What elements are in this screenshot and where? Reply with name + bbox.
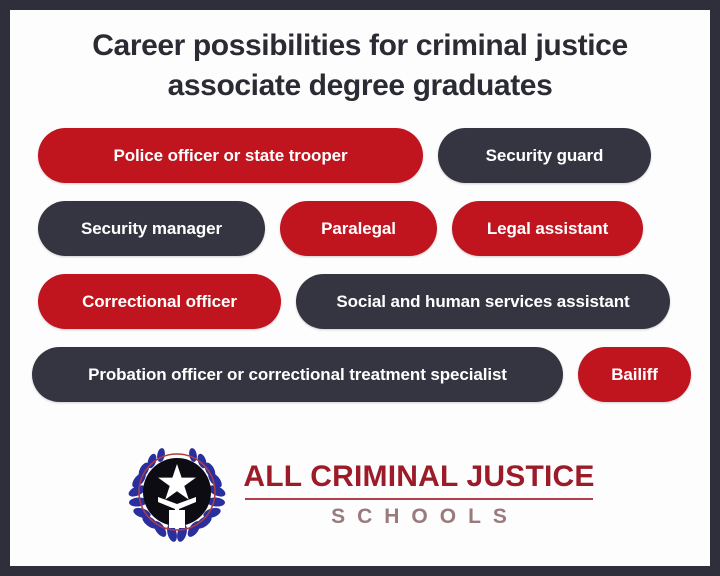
brand-name-secondary: SCHOOLS: [243, 506, 594, 528]
brand-wordmark: ALL CRIMINAL JUSTICE SCHOOLS: [243, 457, 594, 528]
career-row: Police officer or state trooper Security…: [10, 128, 710, 183]
career-pill-security-manager[interactable]: Security manager: [38, 201, 265, 256]
career-pill-bailiff[interactable]: Bailiff: [578, 347, 691, 402]
page-title: Career possibilities for criminal justic…: [10, 26, 710, 106]
career-pill-probation-officer[interactable]: Probation officer or correctional treatm…: [32, 347, 563, 402]
brand-name-primary: ALL CRIMINAL JUSTICE: [243, 461, 594, 493]
brand-divider-rule: [245, 498, 592, 500]
career-row: Probation officer or correctional treatm…: [10, 347, 710, 402]
career-pill-police-officer[interactable]: Police officer or state trooper: [38, 128, 423, 183]
wreath-star-book-emblem-icon: [125, 440, 229, 544]
career-pill-security-guard[interactable]: Security guard: [438, 128, 651, 183]
career-row: Correctional officer Social and human se…: [10, 274, 710, 329]
poster-canvas: Career possibilities for criminal justic…: [10, 10, 710, 566]
infographic-poster: Career possibilities for criminal justic…: [0, 0, 720, 576]
career-pill-paralegal[interactable]: Paralegal: [280, 201, 437, 256]
career-pill-list: Police officer or state trooper Security…: [10, 128, 710, 402]
career-pill-correctional-officer[interactable]: Correctional officer: [38, 274, 281, 329]
page-title-line-2: associate degree graduates: [46, 66, 674, 106]
career-row: Security manager Paralegal Legal assista…: [10, 201, 710, 256]
brand-logo: ALL CRIMINAL JUSTICE SCHOOLS: [10, 440, 710, 544]
page-title-line-1: Career possibilities for criminal justic…: [46, 26, 674, 66]
career-pill-social-and-human-services-assistant[interactable]: Social and human services assistant: [296, 274, 670, 329]
career-pill-legal-assistant[interactable]: Legal assistant: [452, 201, 643, 256]
